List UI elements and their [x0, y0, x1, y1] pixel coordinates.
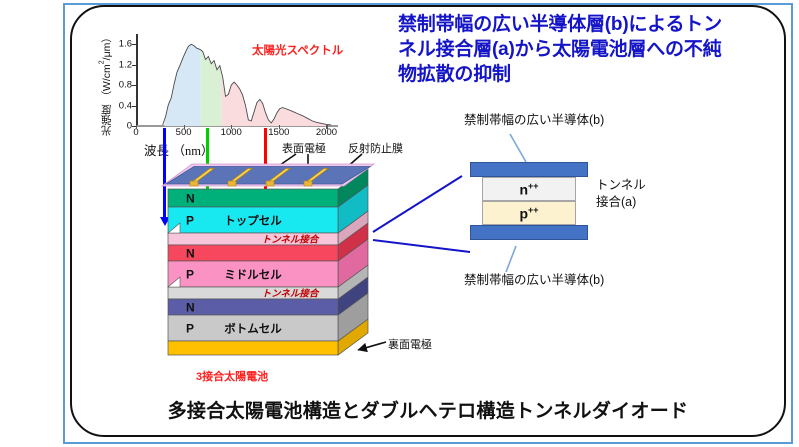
wide-bandgap-bottom-bar	[470, 225, 588, 240]
chart-y-axis-label-text: 光強度 （W/cm2/μm）	[98, 32, 114, 136]
chart-y-axis-label: 光強度 （W/cm2/μm）	[96, 24, 116, 144]
tunnel-diode-bottom-label: 禁制帯幅の広い半導体(b)	[464, 272, 604, 289]
stack-layer-label-bottom-cell-p: ボトムセル	[224, 322, 282, 336]
n-plus-plus-layer: n++	[482, 177, 576, 201]
stack-layer-label-top-cell-p: トップセル	[224, 214, 282, 228]
front-electrode-label: 表面電極	[282, 140, 326, 156]
wide-bandgap-top-bar	[470, 162, 588, 177]
headline-text: 禁制帯幅の広い半導体層(b)によるトンネル接合層(a)から太陽電池層への不純物拡…	[398, 12, 728, 87]
stack-layer-type-top-cell-p: P	[186, 214, 194, 228]
chart-x-tick-mark	[279, 125, 280, 129]
chart-x-axis-label: 波長 （nm）	[144, 140, 213, 159]
chart-y-tick-mark	[132, 85, 137, 86]
chart-x-tick-mark	[184, 125, 185, 129]
chart-y-tick-label: 1.6	[119, 39, 132, 50]
slide-root: 禁制帯幅の広い半導体層(b)によるトンネル接合層(a)から太陽電池層への不純物拡…	[0, 0, 799, 447]
chart-y-tick-mark	[132, 44, 137, 45]
chart-x-tick-mark	[231, 125, 232, 129]
stack-layer-type-bottom-cell-p: P	[186, 322, 194, 336]
back-electrode-label: 裏面電極	[388, 336, 432, 352]
multijunction-solar-cell-stack: NPトップセルトンネル接合NPミドルセルトンネル接合NPボトムセル	[140, 160, 380, 375]
stack-layer-label-middle-cell-p: ミドルセル	[224, 269, 282, 282]
stack-right-face	[338, 167, 368, 355]
tunnel-junction-side-label-line2: 接合(a)	[596, 194, 646, 211]
tunnel-diode-diagram: 禁制帯幅の広い半導体(b) n++ p++ トンネル 接合(a) 禁制帯幅の広い…	[466, 112, 716, 292]
chart-x-tick-mark	[326, 125, 327, 129]
tunnel-junction-side-label: トンネル 接合(a)	[596, 177, 646, 211]
chart-y-tick-mark	[132, 65, 137, 66]
stack-layer-type-middle-cell-n: N	[186, 247, 195, 261]
stack-layer-type-bottom-cell-n: N	[186, 301, 195, 315]
chart-x-tick-mark	[136, 125, 137, 129]
chart-y-tick-label: 1.2	[119, 59, 132, 70]
tunnel-junction-side-label-line1: トンネル	[596, 177, 646, 194]
n-layer-text: n++	[519, 181, 538, 198]
p-plus-plus-layer: p++	[482, 201, 576, 225]
chart-plot-area	[136, 34, 336, 126]
stack-layer-label-tunnel-junction-1: トンネル接合	[262, 234, 320, 246]
arc-label: 反射防止膜	[348, 140, 403, 156]
chart-y-tick-label: 0.8	[119, 80, 132, 91]
stack-layer-type-middle-cell-p: P	[186, 268, 194, 282]
solar-spectrum-chart: 光強度 （W/cm2/μm） 太陽光スペクトル 00.40.81.21.6 05…	[100, 26, 360, 156]
stack-layer-label-tunnel-junction-2: トンネル接合	[262, 288, 320, 300]
chart-curve-svg	[136, 34, 336, 126]
p-layer-text: p++	[519, 205, 538, 222]
chart-y-tick-label: 0.4	[119, 100, 132, 111]
chart-y-tick-mark	[132, 106, 137, 107]
slide-caption: 多接合太陽電池構造とダブルヘテロ構造トンネルダイオード	[70, 396, 786, 423]
stack-layer-type-top-cell-n: N	[186, 192, 195, 206]
